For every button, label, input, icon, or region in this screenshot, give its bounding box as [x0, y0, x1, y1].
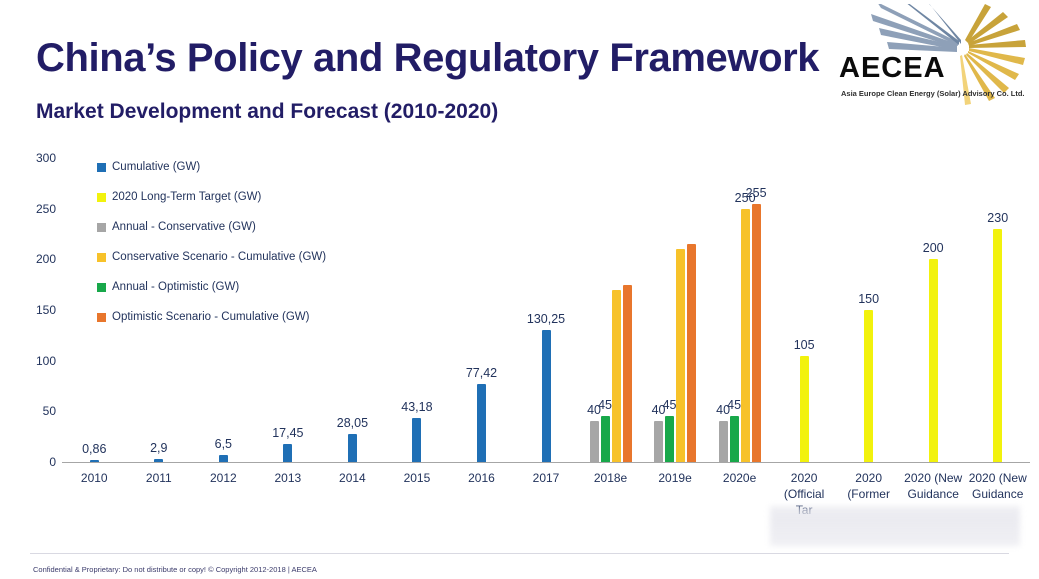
- logo-tagline: Asia Europe Clean Energy (Solar) Advisor…: [841, 89, 1025, 98]
- x-axis-tick-line: 2017: [510, 470, 582, 486]
- x-axis-tick: 2017: [510, 470, 582, 486]
- y-axis-tick: 150: [16, 303, 56, 317]
- x-axis-tick: 2019e: [639, 470, 711, 486]
- x-axis-tick-line: Guidance: [897, 486, 969, 502]
- x-axis-tick-line: 2020: [833, 470, 905, 486]
- bar-value-label: 230: [987, 211, 1008, 225]
- page-subtitle: Market Development and Forecast (2010-20…: [36, 100, 498, 124]
- x-axis-tick-line: 2019e: [639, 470, 711, 486]
- x-axis-tick: 2016: [445, 470, 517, 486]
- y-axis: 050100150200250300: [0, 140, 56, 480]
- x-axis-tick: 2012: [187, 470, 259, 486]
- bar-group: 230: [62, 158, 1030, 462]
- x-axis-tick: 2020 (NewGuidance: [962, 470, 1034, 502]
- page-title: China’s Policy and Regulatory Framework: [36, 36, 819, 81]
- x-axis-tick: 2010: [58, 470, 130, 486]
- x-axis-tick-line: Guidance: [962, 486, 1034, 502]
- x-axis-tick-line: 2020e: [704, 470, 776, 486]
- x-axis-tick: 2013: [252, 470, 324, 486]
- axis-baseline: [62, 462, 1030, 463]
- x-axis-tick-line: 2011: [123, 470, 195, 486]
- x-axis-tick: 2014: [316, 470, 388, 486]
- x-axis-tick-line: 2013: [252, 470, 324, 486]
- x-axis-tick: 2020(Former: [833, 470, 905, 502]
- y-axis-tick: 250: [16, 202, 56, 216]
- footer-text: Confidential & Proprietary: Do not distr…: [33, 565, 317, 574]
- x-axis-tick: 2011: [123, 470, 195, 486]
- x-axis-tick-line: 2020 (New: [897, 470, 969, 486]
- x-axis-tick-line: 2012: [187, 470, 259, 486]
- blur-overlay: [770, 506, 1020, 546]
- y-axis-tick: 100: [16, 354, 56, 368]
- y-axis-tick: 300: [16, 151, 56, 165]
- x-axis-tick-line: 2014: [316, 470, 388, 486]
- x-axis-tick-line: (Official: [768, 486, 840, 502]
- x-axis-tick: 2015: [381, 470, 453, 486]
- x-axis-tick-line: 2020: [768, 470, 840, 486]
- x-axis-tick-line: 2020 (New: [962, 470, 1034, 486]
- y-axis-tick: 0: [16, 455, 56, 469]
- y-axis-tick: 200: [16, 252, 56, 266]
- x-axis-tick: 2020 (NewGuidance: [897, 470, 969, 502]
- y-axis-tick: 50: [16, 404, 56, 418]
- x-axis-tick-line: 2010: [58, 470, 130, 486]
- x-axis-tick: 2020e: [704, 470, 776, 486]
- x-axis-tick: 2018e: [575, 470, 647, 486]
- x-axis-tick-line: (Former: [833, 486, 905, 502]
- bar-chart: 050100150200250300 0,862,96,517,4528,054…: [0, 140, 1039, 540]
- x-axis-tick-line: 2016: [445, 470, 517, 486]
- footer-divider: [30, 553, 1009, 554]
- aecea-logo: AECEA Asia Europe Clean Energy (Solar) A…: [835, 4, 1031, 108]
- x-axis-tick-line: 2018e: [575, 470, 647, 486]
- x-axis-tick-line: 2015: [381, 470, 453, 486]
- logo-wordmark: AECEA: [839, 52, 946, 85]
- plot-area: 0,862,96,517,4528,0543,1877,42130,254045…: [62, 158, 1030, 462]
- bar: [993, 229, 1002, 462]
